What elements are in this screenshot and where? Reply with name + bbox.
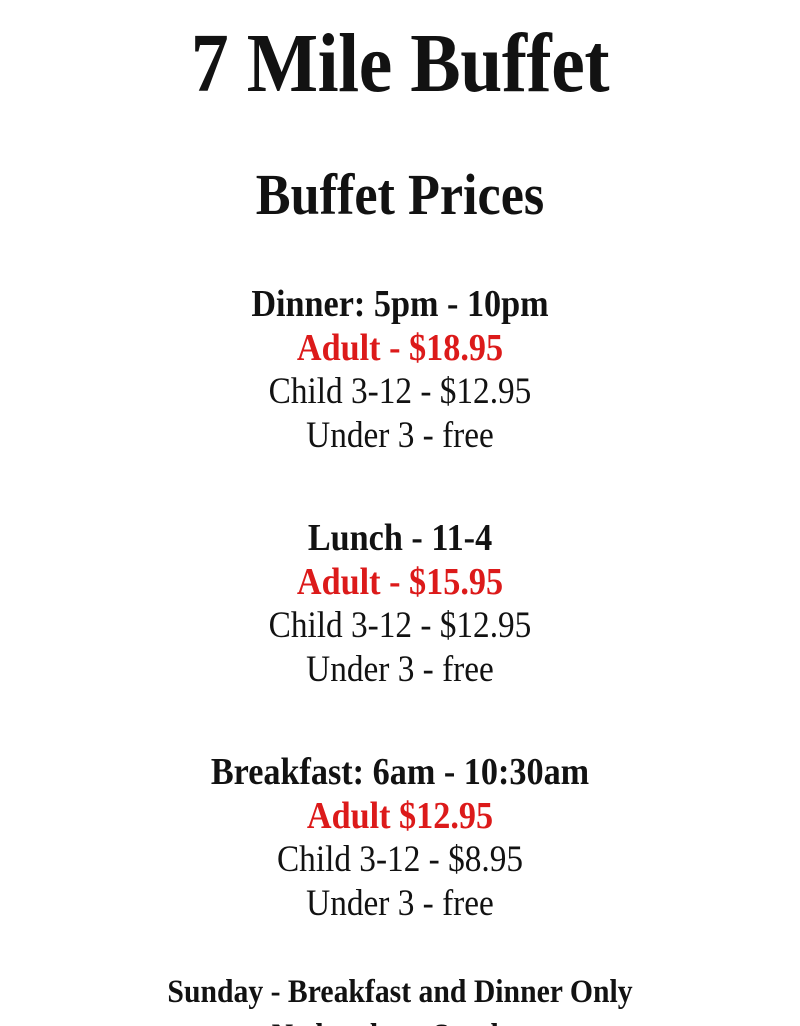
sunday-note-line-1: Sunday - Breakfast and Dinner Only [40, 970, 760, 1014]
price-sections: Dinner: 5pm - 10pm Adult - $18.95 Child … [0, 224, 800, 926]
lunch-adult-price: Adult - $15.95 [40, 560, 760, 604]
meal-section-breakfast: Breakfast: 6am - 10:30am Adult $12.95 Ch… [0, 692, 800, 926]
lunch-heading: Lunch - 11-4 [40, 516, 760, 560]
meal-section-lunch: Lunch - 11-4 Adult - $15.95 Child 3-12 -… [0, 458, 800, 692]
dinner-adult-price: Adult - $18.95 [40, 326, 760, 370]
breakfast-child-price: Child 3-12 - $8.95 [40, 838, 760, 882]
breakfast-heading: Breakfast: 6am - 10:30am [40, 750, 760, 794]
breakfast-adult-price: Adult $12.95 [40, 794, 760, 838]
meal-section-dinner: Dinner: 5pm - 10pm Adult - $18.95 Child … [0, 224, 800, 458]
buffet-price-poster: 7 Mile Buffet Buffet Prices Dinner: 5pm … [0, 0, 800, 1026]
schedule-notes: Sunday - Breakfast and Dinner Only No lu… [0, 926, 800, 1026]
page-title: 7 Mile Buffet [40, 0, 760, 106]
breakfast-under-three-price: Under 3 - free [40, 882, 760, 926]
dinner-heading: Dinner: 5pm - 10pm [40, 282, 760, 326]
page-subtitle: Buffet Prices [40, 106, 760, 224]
dinner-under-three-price: Under 3 - free [40, 414, 760, 458]
sunday-note-line-2: No lunch on Sunday [40, 1014, 760, 1026]
dinner-child-price: Child 3-12 - $12.95 [40, 370, 760, 414]
lunch-child-price: Child 3-12 - $12.95 [40, 604, 760, 648]
lunch-under-three-price: Under 3 - free [40, 648, 760, 692]
